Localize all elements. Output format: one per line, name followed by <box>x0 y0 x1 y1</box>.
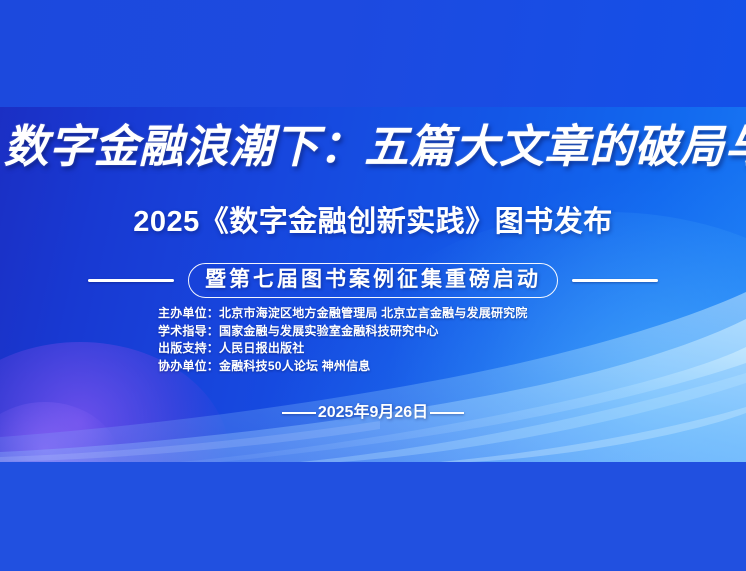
organizer-row: 学术指导：国家金融与发展实验室金融科技研究中心 <box>158 323 618 341</box>
organizer-value: 金融科技50人论坛 神州信息 <box>219 359 370 373</box>
organizer-value: 人民日报出版社 <box>219 341 304 355</box>
bottom-color-band <box>0 462 746 571</box>
pill-rule-right <box>572 279 658 282</box>
pill-banner-row: 暨第七届图书案例征集重磅启动 <box>0 263 746 298</box>
page-title: 数字金融浪潮下：五篇大文章的破局与重构 <box>4 124 743 169</box>
organizer-value: 北京市海淀区地方金融管理局 北京立言金融与发展研究院 <box>219 306 528 320</box>
poster-root: 数字金融浪潮下：五篇大文章的破局与重构 2025《数字金融创新实践》图书发布 暨… <box>0 0 746 571</box>
organizer-label: 协办单位： <box>158 359 219 373</box>
organizer-row: 出版支持：人民日报出版社 <box>158 340 618 358</box>
organizer-value: 国家金融与发展实验室金融科技研究中心 <box>219 324 439 338</box>
organizer-label: 学术指导： <box>158 324 219 338</box>
organizer-label: 出版支持： <box>158 341 219 355</box>
event-date-row: 2025年9月26日 <box>0 405 746 421</box>
organizer-list: 主办单位：北京市海淀区地方金融管理局 北京立言金融与发展研究院 学术指导：国家金… <box>158 305 618 375</box>
organizer-label: 主办单位： <box>158 306 219 320</box>
organizer-row: 主办单位：北京市海淀区地方金融管理局 北京立言金融与发展研究院 <box>158 305 618 323</box>
poster-artwork: 数字金融浪潮下：五篇大文章的破局与重构 2025《数字金融创新实践》图书发布 暨… <box>0 107 746 462</box>
date-rule-right <box>430 412 464 414</box>
poster-content: 数字金融浪潮下：五篇大文章的破局与重构 2025《数字金融创新实践》图书发布 暨… <box>0 107 746 462</box>
organizer-row: 协办单位：金融科技50人论坛 神州信息 <box>158 358 618 376</box>
pill-rule-left <box>88 279 174 282</box>
pill-banner-text: 暨第七届图书案例征集重磅启动 <box>188 263 558 298</box>
event-date: 2025年9月26日 <box>316 405 430 421</box>
top-color-band <box>0 0 746 107</box>
poster-subtitle: 2025《数字金融创新实践》图书发布 <box>0 208 746 237</box>
date-rule-left <box>282 412 316 414</box>
